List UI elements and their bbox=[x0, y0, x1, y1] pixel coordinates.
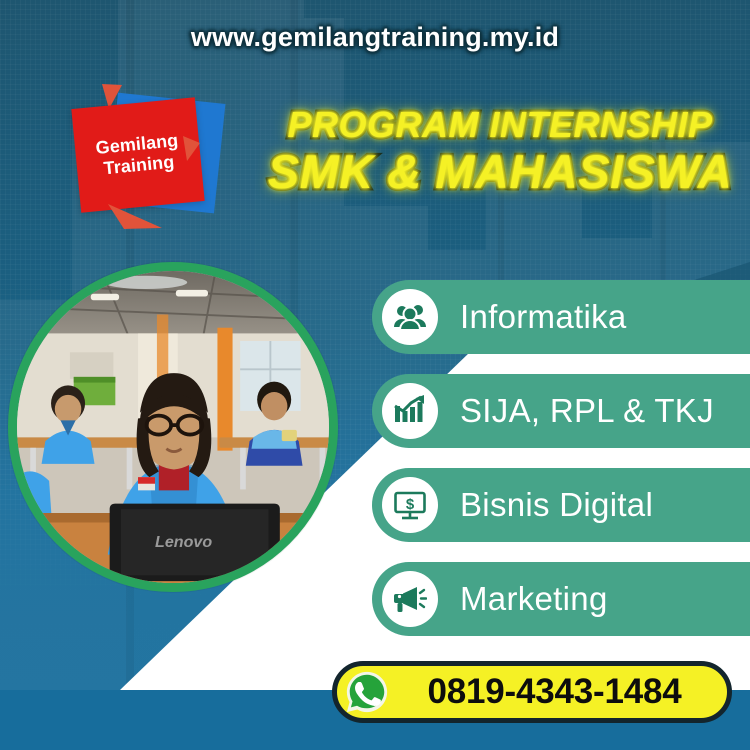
headline-line-1: PROGRAM INTERNSHIP bbox=[250, 104, 750, 146]
bar-chart-growth-icon bbox=[382, 383, 438, 439]
headline-line-2: SMK & MAHASISWA bbox=[250, 146, 750, 198]
brand-logo: Gemilang Training bbox=[60, 82, 240, 232]
headline: PROGRAM INTERNSHIP SMK & MAHASISWA bbox=[250, 104, 750, 198]
list-item[interactable]: Marketing bbox=[372, 562, 750, 636]
list-item-label: Bisnis Digital bbox=[460, 486, 653, 524]
students-photo: Lenovo bbox=[8, 262, 338, 592]
promotional-poster: www.gemilangtraining.my.id Gemilang Trai… bbox=[0, 0, 750, 750]
svg-text:Lenovo: Lenovo bbox=[155, 533, 212, 551]
list-item[interactable]: SIJA, RPL & TKJ bbox=[372, 374, 750, 448]
logo-accent-triangle-right bbox=[180, 134, 204, 164]
whatsapp-icon bbox=[344, 669, 390, 715]
list-item-label: SIJA, RPL & TKJ bbox=[460, 392, 714, 430]
list-item[interactable]: $ Bisnis Digital bbox=[372, 468, 750, 542]
megaphone-icon bbox=[382, 571, 438, 627]
monitor-dollar-icon: $ bbox=[382, 477, 438, 533]
list-item-label: Marketing bbox=[460, 580, 608, 618]
svg-text:$: $ bbox=[406, 496, 415, 513]
list-item[interactable]: Informatika bbox=[372, 280, 750, 354]
users-group-icon bbox=[382, 289, 438, 345]
website-url: www.gemilangtraining.my.id bbox=[0, 22, 750, 53]
whatsapp-contact-button[interactable]: 0819-4343-1484 bbox=[332, 661, 732, 723]
photo-illustration: Lenovo bbox=[17, 271, 329, 583]
list-item-label: Informatika bbox=[460, 298, 627, 336]
logo-accent-triangle-bottom bbox=[106, 200, 168, 232]
phone-number: 0819-4343-1484 bbox=[390, 672, 719, 712]
